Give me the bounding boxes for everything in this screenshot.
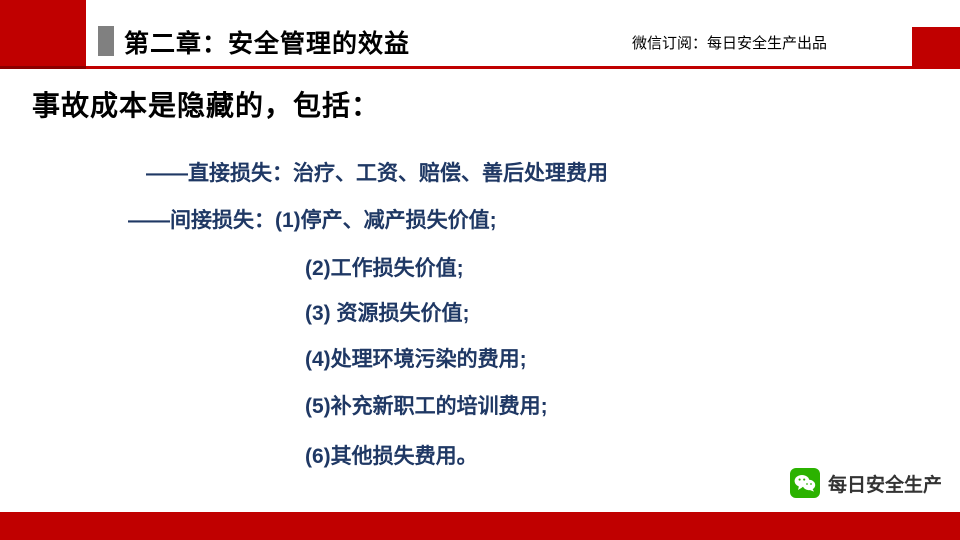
wechat-account-name: 每日安全生产 (828, 470, 942, 497)
wechat-subscription-note: 微信订阅：每日安全生产出品 (632, 32, 827, 53)
chapter-marker (98, 26, 114, 56)
body-line-item-4: (4)处理环境污染的费用; (305, 343, 527, 373)
slide-canvas: 第二章：安全管理的效益 微信订阅：每日安全生产出品 事故成本是隐藏的，包括： —… (0, 0, 960, 540)
body-line-indirect-loss: ——间接损失：(1)停产、减产损失价值; (128, 204, 497, 234)
top-rule (86, 66, 960, 69)
body-line-item-6: (6)其他损失费用。 (305, 440, 478, 470)
top-left-red-block (0, 0, 86, 66)
bottom-red-band (0, 512, 960, 540)
body-line-item-5: (5)补充新职工的培训费用; (305, 390, 548, 420)
body-line-item-3: (3) 资源损失价值; (305, 297, 470, 327)
top-rule-left (0, 66, 86, 69)
wechat-brand: 每日安全生产 (790, 468, 942, 498)
top-right-red-block (912, 27, 960, 67)
page-title: 事故成本是隐藏的，包括： (32, 84, 380, 124)
wechat-icon (790, 468, 820, 498)
body-line-direct-loss: ——直接损失：治疗、工资、赔偿、善后处理费用 (146, 157, 608, 187)
chapter-title: 第二章：安全管理的效益 (124, 24, 410, 60)
body-line-item-2: (2)工作损失价值; (305, 252, 464, 282)
